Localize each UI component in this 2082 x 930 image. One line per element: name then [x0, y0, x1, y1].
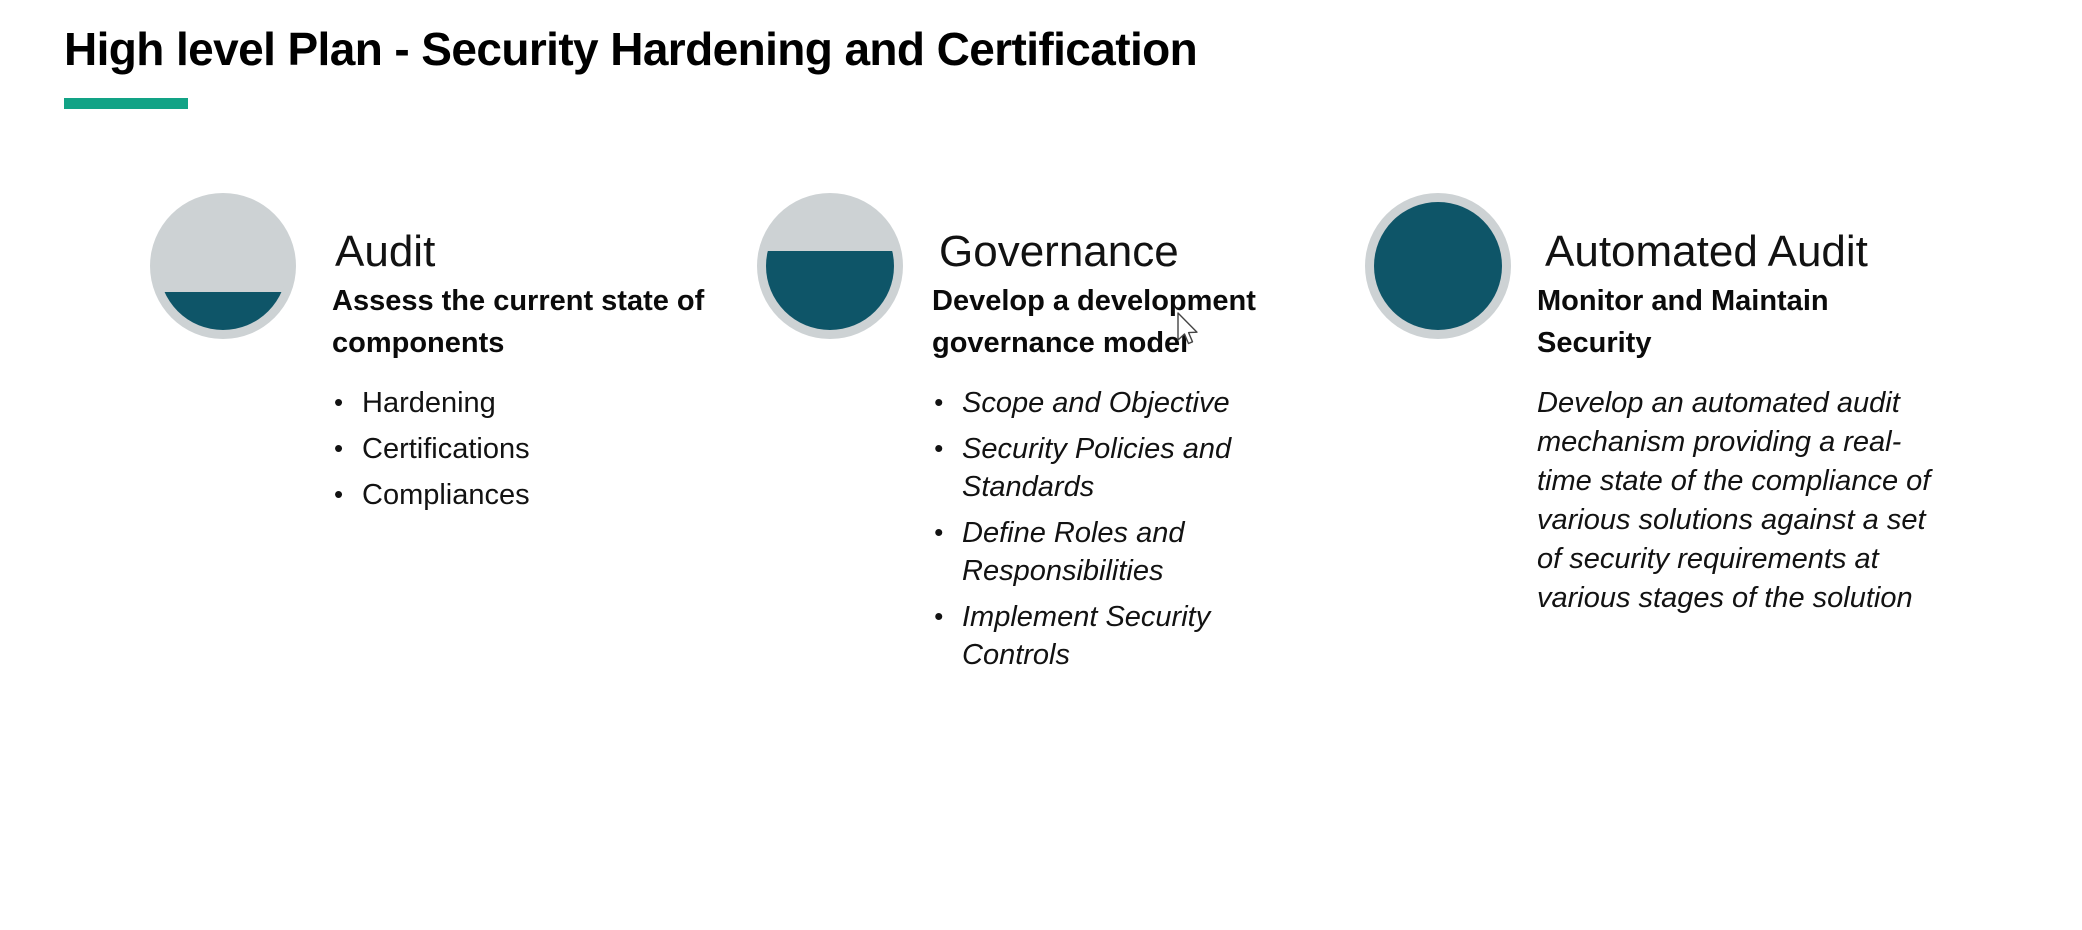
gauge-audit-inner: [159, 202, 287, 330]
column-automated-audit-subhead: Monitor and Maintain Security: [1537, 280, 1917, 364]
list-item: Hardening: [332, 384, 692, 422]
gauge-automated-audit-inner: [1374, 202, 1502, 330]
gauge-automated-audit-fill: [1374, 202, 1502, 330]
column-automated-audit-body: Monitor and Maintain Security Develop an…: [1537, 280, 2017, 618]
list-item: Implement Security Controls: [932, 598, 1292, 674]
list-item: Security Policies and Standards: [932, 430, 1292, 506]
gauge-governance: [757, 193, 903, 339]
list-item: Certifications: [332, 430, 692, 468]
gauge-automated-audit: [1365, 193, 1511, 339]
column-audit: Audit Assess the current state of compon…: [150, 185, 770, 325]
column-audit-bullet-list: HardeningCertificationsCompliances: [332, 384, 812, 514]
list-item: Scope and Objective: [932, 384, 1292, 422]
column-automated-audit-title: Automated Audit: [1545, 225, 1868, 279]
column-governance-bullet-list: Scope and ObjectiveSecurity Policies and…: [932, 384, 1412, 674]
gauge-audit: [150, 193, 296, 339]
column-governance-title: Governance: [939, 225, 1179, 279]
title-accent-rule: [64, 98, 188, 109]
column-audit-body: Assess the current state of components H…: [332, 280, 812, 522]
page-title: High level Plan - Security Hardening and…: [64, 22, 1197, 76]
gauge-governance-fill: [766, 251, 894, 330]
list-item: Define Roles and Responsibilities: [932, 514, 1292, 590]
gauge-governance-inner: [766, 202, 894, 330]
column-governance: Governance Develop a development governa…: [757, 185, 1377, 325]
column-automated-audit-paragraph: Develop an automated audit mechanism pro…: [1537, 384, 1937, 618]
column-audit-title: Audit: [335, 225, 435, 279]
gauge-audit-fill: [159, 292, 287, 330]
column-governance-subhead: Develop a development governance model: [932, 280, 1332, 364]
column-audit-subhead: Assess the current state of components: [332, 280, 732, 364]
list-item: Compliances: [332, 476, 692, 514]
column-governance-body: Develop a development governance model S…: [932, 280, 1412, 682]
columns-container: Audit Assess the current state of compon…: [0, 185, 2082, 885]
column-automated-audit: Automated Audit Monitor and Maintain Sec…: [1365, 185, 1985, 325]
